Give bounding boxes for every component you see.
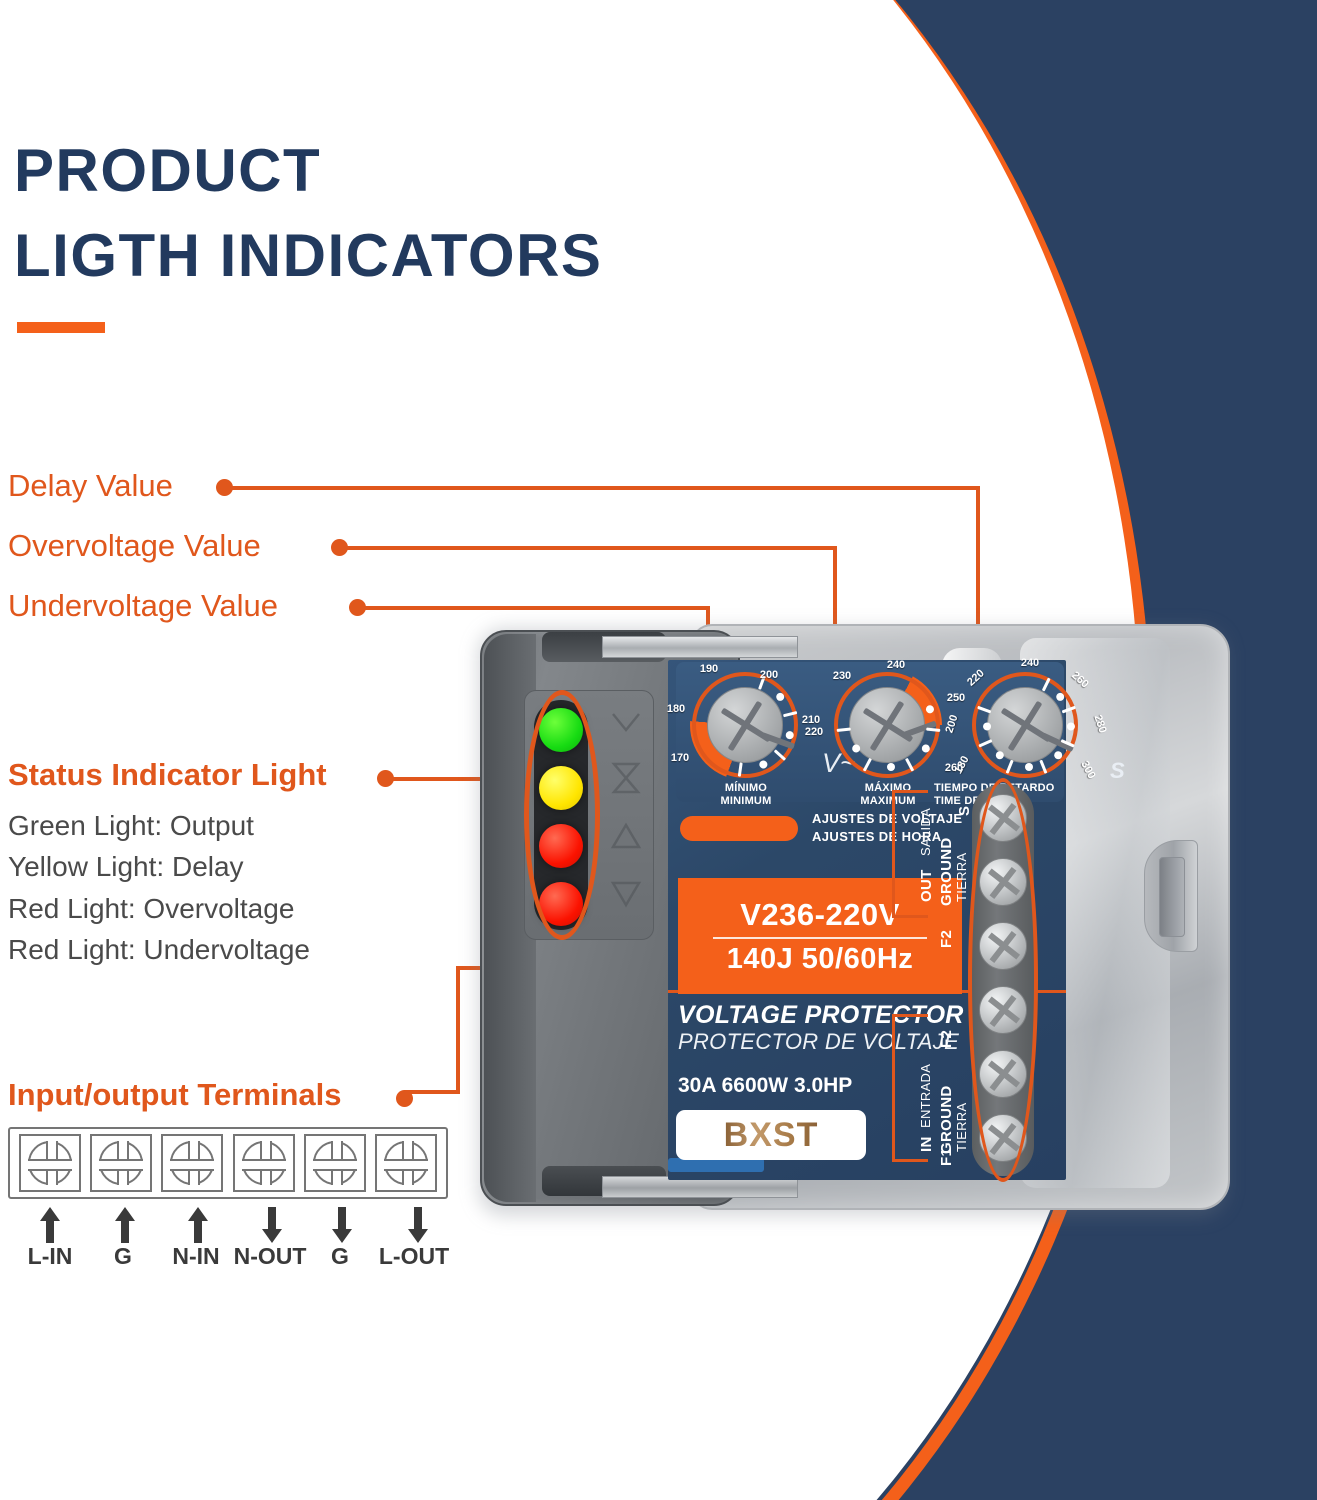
status-legend-list: Green Light: Output Yellow Light: Delay … — [8, 805, 310, 971]
hourglass-icon — [608, 760, 644, 796]
terminal-label-out-side-es: SALIDA — [918, 808, 933, 856]
product-ratings: 30A 6600W 3.0HP — [678, 1074, 852, 1098]
page-title-line1: PRODUCT — [14, 137, 321, 204]
page-title: PRODUCT LIGTH INDICATORS — [14, 128, 602, 298]
arrow-down-icon — [406, 1205, 430, 1245]
page-title-line2: LIGTH INDICATORS — [14, 222, 602, 289]
triangle-up-icon — [608, 818, 644, 854]
dial-minimum-tick-190: 190 — [700, 663, 718, 675]
terminal-label-l-out: L-OUT — [379, 1243, 449, 1270]
terminal-label-out-side: OUT — [918, 869, 935, 902]
terminal-cell — [304, 1134, 366, 1192]
terminal-label-g-in: G — [114, 1243, 132, 1270]
terminal-direction-arrows — [8, 1205, 448, 1247]
terminal-label-in-f1: F1 — [938, 1148, 955, 1166]
leader-line-terminals-v — [456, 966, 460, 1092]
brand-logo-text: BXST — [724, 1116, 819, 1155]
led-highlight-ellipse — [524, 690, 600, 940]
leader-line-delay-h — [228, 486, 980, 490]
dial-tick-dot — [887, 763, 895, 771]
terminal-label-in-ground-es: TIERRA — [954, 1103, 969, 1152]
model-number: V236-220V — [740, 897, 900, 933]
model-spec: 140J 50/60Hz — [727, 943, 914, 976]
screw-icon — [99, 1141, 143, 1185]
terminal-cell — [161, 1134, 223, 1192]
screw-icon — [313, 1141, 357, 1185]
dial-minimum-tick-210: 210 — [802, 714, 820, 726]
terminal-cell — [375, 1134, 437, 1192]
dial-minimum-tick-180: 180 — [667, 703, 685, 715]
metal-strip-top — [602, 636, 798, 658]
screw-icon — [170, 1141, 214, 1185]
voltage-protector-device: 170 180 190 200 210 MÍNIMO MINIMUM V~ 22… — [472, 618, 1232, 1218]
terminal-label-in-side: IN — [918, 1136, 935, 1152]
settings-pill — [680, 816, 798, 841]
dial-minimum[interactable]: 170 180 190 200 210 — [692, 672, 798, 778]
callout-undervoltage-value: Undervoltage Value — [8, 588, 278, 624]
seconds-symbol: S — [1110, 758, 1125, 784]
dial-maximum-knob[interactable] — [849, 687, 925, 763]
terminal-label-out-ground-es: TIERRA — [954, 853, 969, 902]
dial-maximum-tick-220: 220 — [805, 726, 823, 738]
terminal-label-out-s: S — [956, 806, 973, 816]
arrow-up-icon — [38, 1205, 62, 1245]
dial-delay-tick-240: 240 — [1021, 657, 1039, 669]
terminal-highlight-ellipse — [968, 778, 1038, 1182]
arrow-up-icon — [186, 1205, 210, 1245]
callout-input-output-terminals: Input/output Terminals — [8, 1077, 342, 1113]
dial-minimum-caption: MÍNIMO MINIMUM — [680, 782, 812, 809]
dial-tick-dot — [1025, 763, 1033, 771]
terminal-label-in-side-es: ENTRADA — [918, 1064, 933, 1128]
infographic-canvas: PRODUCT LIGTH INDICATORS Delay Value Ove… — [0, 0, 1317, 1500]
dial-maximum-tick-250: 250 — [947, 692, 965, 704]
embossed-icon-column — [604, 696, 650, 936]
terminal-cell — [233, 1134, 295, 1192]
cover-latch[interactable] — [1144, 840, 1198, 952]
dial-maximum[interactable]: 220 230 240 250 260 — [834, 672, 940, 778]
screw-icon — [384, 1141, 428, 1185]
terminal-cell — [19, 1134, 81, 1192]
leader-line-overvoltage-h — [343, 546, 837, 550]
terminal-legend-box — [8, 1127, 448, 1199]
dial-maximum-tick-240: 240 — [887, 659, 905, 671]
callout-status-indicator-light: Status Indicator Light — [8, 757, 327, 793]
title-underline-rule — [17, 322, 105, 333]
terminal-label-out-ground: GROUND — [938, 838, 955, 906]
dial-minimum-tick-200: 200 — [760, 669, 778, 681]
terminal-label-l-in: L-IN — [28, 1243, 73, 1270]
dial-minimum-tick-170: 170 — [671, 752, 689, 764]
blue-tab — [668, 1158, 764, 1172]
screw-icon — [28, 1141, 72, 1185]
screw-icon — [242, 1141, 286, 1185]
leader-line-terminals-h — [404, 1090, 460, 1094]
check-icon — [608, 702, 644, 738]
terminal-label-in-ground: GROUND — [938, 1086, 955, 1154]
badge-divider — [713, 937, 927, 939]
terminal-label-row: L-IN G N-IN N-OUT G L-OUT — [0, 1243, 460, 1273]
terminal-label-g-out: G — [331, 1243, 349, 1270]
callout-delay-value: Delay Value — [8, 468, 173, 504]
leader-line-undervoltage-h — [361, 606, 710, 610]
triangle-down-icon — [608, 876, 644, 912]
arrow-down-icon — [260, 1205, 284, 1245]
dial-time-delay[interactable]: 180 200 220 240 260 280 300 — [972, 672, 1078, 778]
terminal-label-in-f2: F2 — [938, 1030, 955, 1048]
cover-latch-inner — [1159, 857, 1185, 937]
terminal-label-out-f2: F2 — [938, 930, 955, 948]
dial-minimum-knob[interactable] — [707, 687, 783, 763]
terminal-label-n-out: N-OUT — [234, 1243, 307, 1270]
arrow-up-icon — [113, 1205, 137, 1245]
arrow-down-icon — [330, 1205, 354, 1245]
dial-maximum-tick-230: 230 — [833, 670, 851, 682]
brand-logo-box: BXST — [676, 1110, 866, 1160]
callout-overvoltage-value: Overvoltage Value — [8, 528, 261, 564]
terminal-label-n-in: N-IN — [172, 1243, 219, 1270]
terminal-cell — [90, 1134, 152, 1192]
